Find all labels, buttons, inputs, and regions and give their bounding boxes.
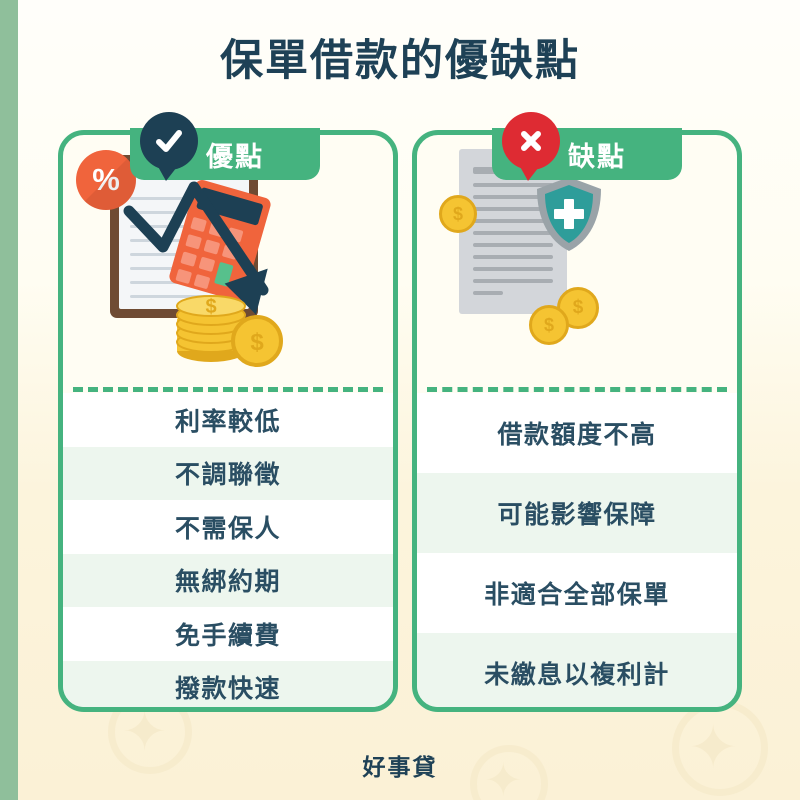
cross-circle-icon [502, 112, 560, 170]
list-item: 無綁約期 [63, 554, 393, 608]
cons-card: $ $ $ 借款額度不高 可能影響保障 非適合全部保單 未繳息以複利計 [412, 130, 742, 712]
list-item: 借款額度不高 [417, 393, 737, 473]
cons-banner-label: 缺點 [568, 135, 626, 174]
pros-list: 利率較低 不調聯徵 不需保人 無綁約期 免手續費 撥款快速 [63, 393, 393, 707]
list-item: 非適合全部保單 [417, 553, 737, 633]
left-edge-strip [0, 0, 18, 800]
cons-dashed-divider [427, 387, 727, 392]
list-item: 不調聯徵 [63, 447, 393, 501]
list-item: 不需保人 [63, 500, 393, 554]
cons-list: 借款額度不高 可能影響保障 非適合全部保單 未繳息以複利計 [417, 393, 737, 707]
svg-text:$: $ [250, 329, 264, 356]
coin-icon: $ [529, 305, 569, 345]
list-item: 可能影響保障 [417, 473, 737, 553]
pros-card: % [58, 130, 398, 712]
page-title: 保單借款的優缺點 [0, 26, 800, 88]
infographic-page: ✦ ✦ ✦ 保單借款的優缺點 [0, 0, 800, 800]
list-item: 利率較低 [63, 393, 393, 447]
footer-logo: 好事貸 [0, 748, 800, 782]
shield-protection-icon [535, 175, 603, 253]
list-item: 撥款快速 [63, 661, 393, 713]
check-circle-icon [140, 112, 198, 170]
pros-banner-label: 優點 [206, 135, 264, 174]
coin-icon: $ [439, 195, 477, 233]
list-item: 免手續費 [63, 607, 393, 661]
coin-stack-icon: $ $ [171, 263, 291, 373]
list-item: 未繳息以複利計 [417, 633, 737, 712]
svg-text:$: $ [205, 296, 216, 318]
